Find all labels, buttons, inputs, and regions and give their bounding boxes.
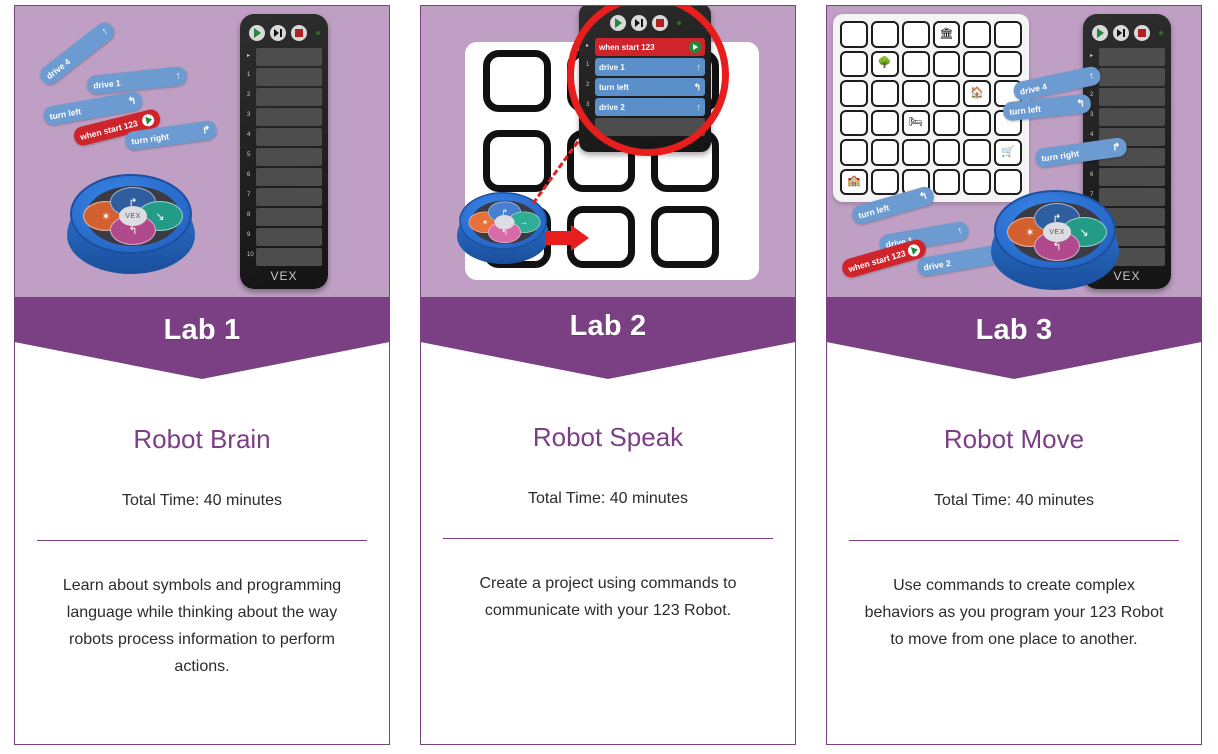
turn-left-arrow-icon: ↰: [918, 190, 929, 203]
coder-slot: 5: [256, 148, 322, 166]
coder-slot: 1: [256, 68, 322, 86]
tree-tile: 🌳: [871, 51, 899, 78]
field-tile: [483, 50, 551, 112]
lab-3-total-time: Total Time: 40 minutes: [934, 492, 1094, 510]
lab-card-2[interactable]: ✶ ↱ → ↰: [420, 5, 796, 745]
coder-slot: ▸: [1099, 48, 1165, 66]
red-right-arrow-icon: [545, 225, 589, 251]
field-tile: [963, 139, 991, 166]
field-tile: [963, 21, 991, 48]
command-block-drive-1[interactable]: drive 1 ↑: [86, 66, 187, 95]
pool-tile: 🛏: [902, 110, 930, 137]
play-button[interactable]: [1092, 25, 1108, 41]
status-led-icon: [1159, 31, 1163, 35]
coder-slot: 1: [1099, 68, 1165, 86]
lab-2-thumbnail: ✶ ↱ → ↰: [421, 6, 795, 297]
robot-top: ✶ ↱ ↘ ↰ VEX: [994, 190, 1116, 270]
play-button[interactable]: [249, 25, 265, 41]
field-tile: [840, 51, 868, 78]
coder-button-row: [246, 22, 322, 44]
field-tile: [933, 80, 961, 107]
lab-3-title: Robot Move: [944, 424, 1084, 455]
robot-field-board: 🏛 🌳 🏠 🛏 🛒 🏫: [833, 14, 1029, 202]
lab-3-description: Use commands to create complex behaviors…: [858, 572, 1170, 653]
robot-top: ✶ ↱ ↘ ↰ VEX: [70, 174, 192, 254]
field-tile: [963, 110, 991, 137]
lab-2-banner-label: Lab 2: [570, 310, 647, 379]
lab-1-total-time: Total Time: 40 minutes: [122, 492, 282, 510]
lab-1-description: Learn about symbols and programming lang…: [46, 572, 358, 680]
vex-brand-logo: VEX: [246, 269, 322, 283]
field-tile: [902, 80, 930, 107]
123-robot: ✶ ↱ ↘ ↰ VEX: [991, 190, 1119, 297]
stop-button[interactable]: [291, 25, 307, 41]
lab-3-body: Robot Move Total Time: 40 minutes Use co…: [827, 379, 1201, 744]
lab-3-divider: [849, 540, 1179, 541]
coder-slot-list: ▸ 1 2 3 4 5 6 7 8 9 10: [246, 48, 322, 266]
status-led-icon: [316, 31, 320, 35]
field-tile: [902, 21, 930, 48]
lab-2-divider: [443, 538, 773, 539]
turn-right-arrow-icon: ↱: [202, 124, 212, 136]
lab-card-grid: ▸ 1 2 3 4 5 6 7 8 9 10 VEX drive 4 ↑: [0, 0, 1218, 754]
lab-1-title: Robot Brain: [133, 424, 270, 455]
vex-coder-device: ▸ 1 2 3 4 5 6 7 8 9 10 VEX: [240, 14, 328, 289]
field-tile: [840, 80, 868, 107]
lab-1-body: Robot Brain Total Time: 40 minutes Learn…: [15, 379, 389, 744]
field-tile: [902, 51, 930, 78]
field-tile: [840, 21, 868, 48]
coder-slot: 6: [256, 168, 322, 186]
field-tile: [963, 169, 991, 196]
lab-2-title: Robot Speak: [533, 422, 683, 453]
coder-slot: 7: [256, 188, 322, 206]
field-tile: [871, 139, 899, 166]
coder-slot: 4: [256, 128, 322, 146]
field-tile: [933, 139, 961, 166]
robot-center-logo: [494, 215, 514, 229]
123-robot: ✶ ↱ → ↰: [457, 192, 549, 270]
up-arrow-icon: ↑: [1088, 70, 1095, 82]
coder-slot: 2: [1099, 88, 1165, 106]
lab-3-thumbnail: 🏛 🌳 🏠 🛏 🛒 🏫: [827, 6, 1201, 297]
step-button[interactable]: [1113, 25, 1129, 41]
turn-left-arrow-icon: ↰: [1076, 98, 1085, 110]
lab-1-banner: Lab 1: [15, 297, 389, 379]
up-arrow-icon: ↑: [957, 225, 964, 237]
lab-1-thumbnail: ▸ 1 2 3 4 5 6 7 8 9 10 VEX drive 4 ↑: [15, 6, 389, 297]
coder-slot: 6: [1099, 168, 1165, 186]
robot-dial: ✶ ↱ ↘ ↰ VEX: [86, 186, 180, 246]
field-tile: [994, 21, 1022, 48]
step-button[interactable]: [270, 25, 286, 41]
field-tile: [840, 139, 868, 166]
field-tile: [483, 130, 551, 192]
house-tile: 🏠: [963, 80, 991, 107]
lab-1-divider: [37, 540, 367, 541]
lab-2-description: Create a project using commands to commu…: [452, 570, 764, 624]
robot-center-logo: VEX: [1043, 222, 1071, 242]
lab-card-1[interactable]: ▸ 1 2 3 4 5 6 7 8 9 10 VEX drive 4 ↑: [14, 5, 390, 745]
lab-3-banner: Lab 3: [827, 297, 1201, 379]
field-tile: [871, 80, 899, 107]
field-tile: [651, 206, 719, 268]
school-tile: 🏫: [840, 169, 868, 196]
field-tile: [871, 110, 899, 137]
field-tile: [871, 169, 899, 196]
lab-2-total-time: Total Time: 40 minutes: [528, 490, 688, 508]
field-tile: [994, 51, 1022, 78]
field-tile: [902, 139, 930, 166]
lab-1-banner-label: Lab 1: [164, 314, 241, 379]
coder-slot: 3: [256, 108, 322, 126]
field-tile: [933, 110, 961, 137]
lab-2-banner: Lab 2: [421, 297, 795, 379]
lab-3-banner-label: Lab 3: [976, 314, 1053, 379]
bank-tile: 🏛: [933, 21, 961, 48]
lab-2-body: Robot Speak Total Time: 40 minutes Creat…: [421, 379, 795, 744]
store-tile: 🛒: [994, 139, 1022, 166]
field-tile: [933, 51, 961, 78]
field-tile: [840, 110, 868, 137]
field-tile: [871, 21, 899, 48]
turn-left-arrow-icon: ↰: [127, 95, 137, 107]
coder-slot: 3: [1099, 108, 1165, 126]
stop-button[interactable]: [1134, 25, 1150, 41]
lab-card-3[interactable]: 🏛 🌳 🏠 🛏 🛒 🏫: [826, 5, 1202, 745]
robot-dial: ✶ ↱ → ↰: [471, 201, 539, 244]
robot-center-logo: VEX: [119, 206, 147, 226]
123-robot: ✶ ↱ ↘ ↰ VEX: [67, 174, 195, 282]
field-tile: [933, 169, 961, 196]
coder-button-row: [1089, 22, 1165, 44]
turn-right-arrow-icon: ↱: [1112, 141, 1122, 153]
coder-slot: 2: [256, 88, 322, 106]
coder-slot: 10: [256, 248, 322, 266]
coder-slot: ▸: [256, 48, 322, 66]
field-tile: [963, 51, 991, 78]
coder-slot: 8: [256, 208, 322, 226]
coder-slot: 9: [256, 228, 322, 246]
up-arrow-icon: ↑: [175, 70, 181, 81]
robot-dial: ✶ ↱ ↘ ↰ VEX: [1010, 202, 1104, 262]
